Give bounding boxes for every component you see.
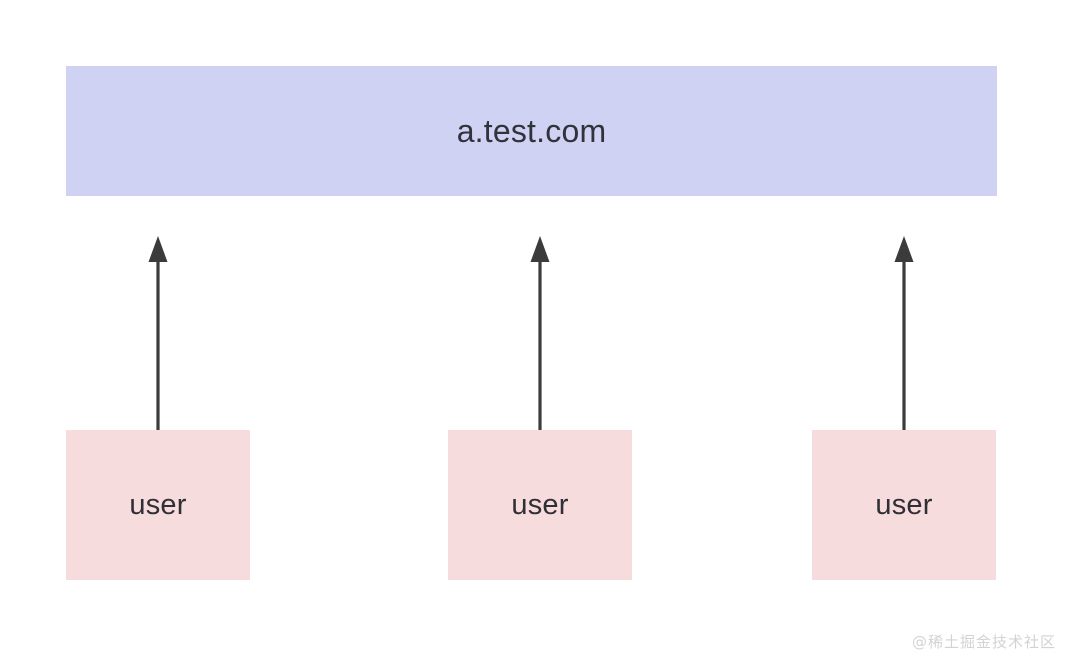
user-node-label: user (511, 489, 568, 522)
server-node-a-test-com[interactable]: a.test.com (66, 66, 997, 196)
user-node-label: user (129, 489, 186, 522)
user-node-2[interactable]: user (448, 430, 632, 580)
connector-arrow-user-3 (895, 236, 914, 432)
diagram-canvas: a.test.com user user user @稀土掘金技术社区 (0, 0, 1070, 664)
user-node-3[interactable]: user (812, 430, 996, 580)
connector-arrow-user-2 (531, 236, 550, 432)
user-node-1[interactable]: user (66, 430, 250, 580)
watermark: @稀土掘金技术社区 (912, 631, 1056, 652)
connector-arrow-user-1 (149, 236, 168, 432)
user-node-label: user (875, 489, 932, 522)
server-node-label: a.test.com (457, 113, 607, 150)
